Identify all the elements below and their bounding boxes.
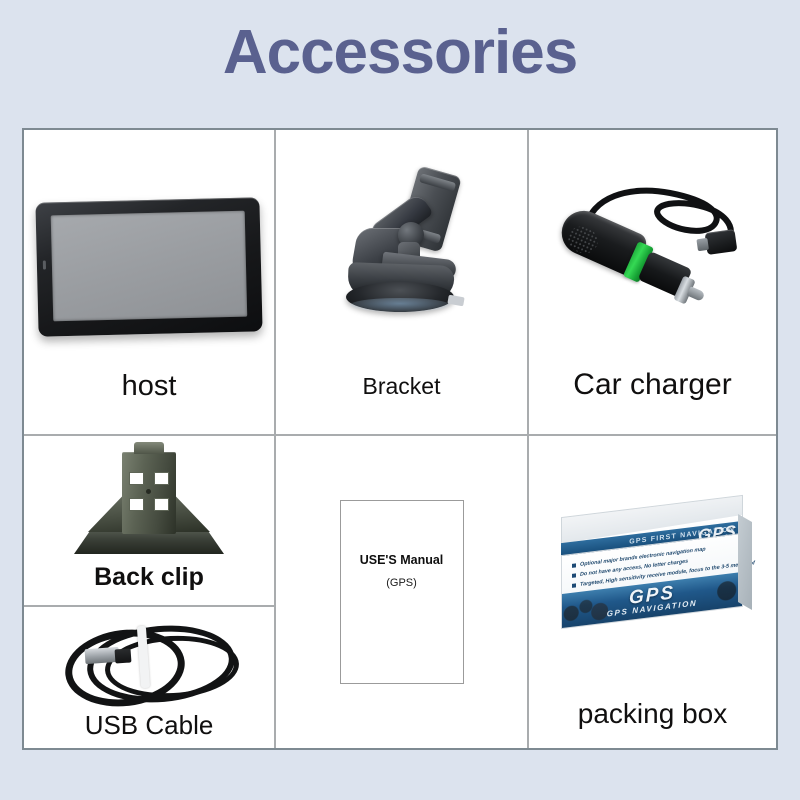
label-car-charger: Car charger bbox=[529, 368, 776, 402]
12v-car-charger-cable bbox=[538, 167, 768, 337]
cell-usb-cable[interactable]: USB Cable bbox=[24, 607, 274, 748]
cell-bracket[interactable]: Bracket bbox=[276, 130, 527, 434]
suction-cup-mount bbox=[312, 164, 492, 344]
bracket-image bbox=[276, 154, 527, 354]
usb-cable-image bbox=[24, 619, 274, 709]
back-clip-tab bbox=[134, 442, 164, 454]
cell-car-charger[interactable]: Car charger bbox=[529, 130, 776, 434]
bullet-square-icon bbox=[572, 573, 576, 577]
back-clip-slot bbox=[129, 498, 144, 511]
gps-navigator-unit bbox=[35, 197, 262, 336]
bracket-suction-rim bbox=[350, 298, 450, 312]
manual-subtitle: (GPS) bbox=[341, 577, 463, 589]
bullet-square-icon bbox=[572, 563, 576, 567]
label-bracket: Bracket bbox=[276, 373, 527, 400]
usb-connector-shell bbox=[115, 648, 132, 663]
users-manual-booklet: USE'S Manual (GPS) bbox=[340, 500, 464, 684]
cell-host[interactable]: host bbox=[24, 130, 274, 434]
car-charger-image bbox=[529, 152, 776, 352]
label-packing-box: packing box bbox=[529, 698, 776, 730]
packing-box-image: GPS Optional major brands electronic nav… bbox=[529, 502, 776, 632]
cell-back-clip[interactable]: Back clip bbox=[24, 436, 274, 605]
back-clip-slot bbox=[154, 498, 169, 511]
charger-mini-usb-plug bbox=[704, 229, 737, 255]
accessories-grid: host Bracket bbox=[22, 128, 778, 750]
back-clip-slot bbox=[129, 472, 144, 485]
host-screen bbox=[51, 211, 248, 322]
coiled-usb-cable bbox=[61, 622, 237, 706]
cell-packing-box[interactable]: GPS Optional major brands electronic nav… bbox=[529, 436, 776, 748]
label-back-clip: Back clip bbox=[24, 563, 274, 592]
box-side-panel bbox=[738, 514, 752, 610]
host-side-button bbox=[43, 261, 46, 270]
manual-title: USE'S Manual bbox=[341, 553, 463, 567]
back-clip-bracket bbox=[74, 442, 224, 562]
back-clip-screw-hole bbox=[146, 489, 151, 494]
back-clip-slot bbox=[154, 472, 169, 485]
host-image bbox=[24, 172, 274, 362]
cell-manual[interactable]: USE'S Manual (GPS) bbox=[276, 436, 527, 748]
label-host: host bbox=[24, 370, 274, 403]
back-clip-image bbox=[24, 442, 274, 562]
label-usb-cable: USB Cable bbox=[24, 710, 274, 741]
retail-carton: GPS Optional major brands electronic nav… bbox=[555, 504, 751, 630]
page-title: Accessories bbox=[0, 22, 800, 84]
manual-image: USE'S Manual (GPS) bbox=[276, 500, 527, 684]
bullet-square-icon bbox=[572, 583, 576, 587]
